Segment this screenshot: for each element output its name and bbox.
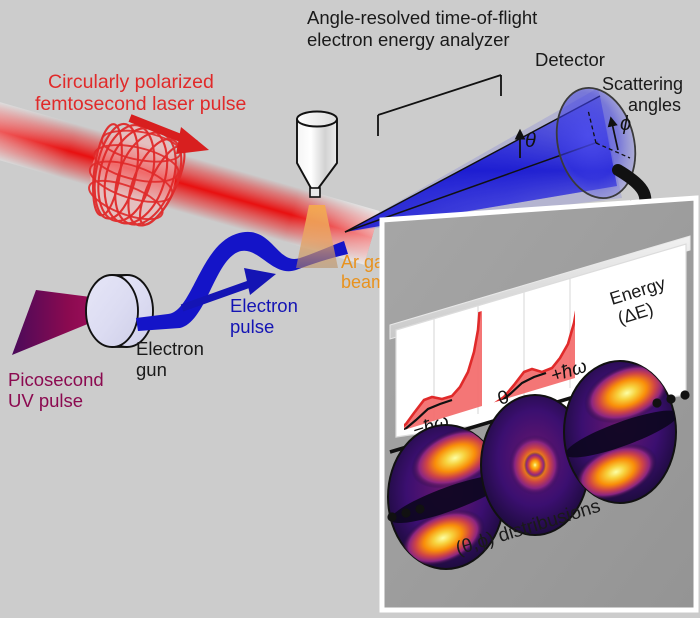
detector-label: Detector <box>535 49 605 70</box>
scattering-angles-label-line2: angles <box>628 95 681 115</box>
figure-canvas: Circularly polarized femtosecond laser p… <box>0 0 700 618</box>
laser-label-line1: Circularly polarized <box>48 71 214 93</box>
theta-symbol: θ <box>525 130 536 152</box>
gas-beam-label-line2: beam <box>341 272 386 292</box>
electron-gun <box>86 275 153 347</box>
phi-symbol: ϕ <box>620 113 631 135</box>
scattering-angles-label-line1: Scattering <box>602 74 683 94</box>
analyzer-label-line2: electron energy analyzer <box>307 29 510 50</box>
electron-gun-label-line2: gun <box>136 359 167 380</box>
electron-pulse-label-line2: pulse <box>230 316 274 337</box>
laser-label-line2: femtosecond laser pulse <box>35 93 246 115</box>
uv-pulse-label-line2: UV pulse <box>8 390 83 411</box>
uv-pulse-label-line1: Picosecond <box>8 369 104 390</box>
electron-gun-label-line1: Electron <box>136 338 204 359</box>
electron-pulse-label-line1: Electron <box>230 295 298 316</box>
analyzer-label-line1: Angle-resolved time-of-flight <box>307 7 537 28</box>
